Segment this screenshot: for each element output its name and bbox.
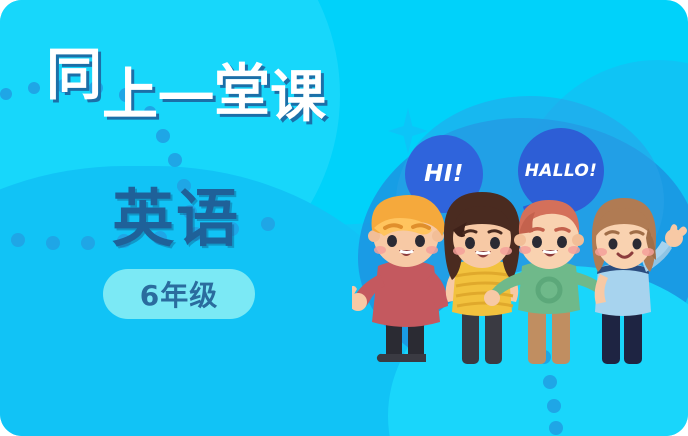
trail-dot (28, 82, 40, 94)
title-char-5: 课 (270, 70, 326, 126)
children-illustration (352, 186, 688, 366)
speech-bubble-hallo-text: HALLO! (525, 161, 597, 181)
trail-dot (543, 375, 557, 389)
trail-dot (549, 421, 563, 435)
trail-dot (81, 236, 95, 250)
title-char-3: 一 (158, 72, 214, 128)
promo-card: 同 上 一 堂 课 英语 6年级 HI! HALLO! (0, 0, 688, 436)
page-title: 同 上 一 堂 课 (46, 46, 346, 142)
title-char-2: 上 (102, 68, 158, 124)
trail-dot (46, 236, 60, 250)
title-char-4: 堂 (214, 64, 270, 120)
child-1 (352, 195, 448, 362)
trail-dot (547, 399, 561, 413)
subject-label: 英语 (112, 188, 240, 250)
title-char-1: 同 (46, 48, 102, 104)
grade-badge: 6年级 (103, 269, 255, 319)
trail-dot (11, 233, 25, 247)
trail-dot (261, 217, 275, 231)
trail-dot (168, 153, 182, 167)
grade-badge-label: 6年级 (140, 274, 218, 314)
speech-bubble-hi-text: HI! (424, 161, 464, 187)
trail-dot (0, 88, 12, 100)
child-4 (592, 198, 687, 364)
